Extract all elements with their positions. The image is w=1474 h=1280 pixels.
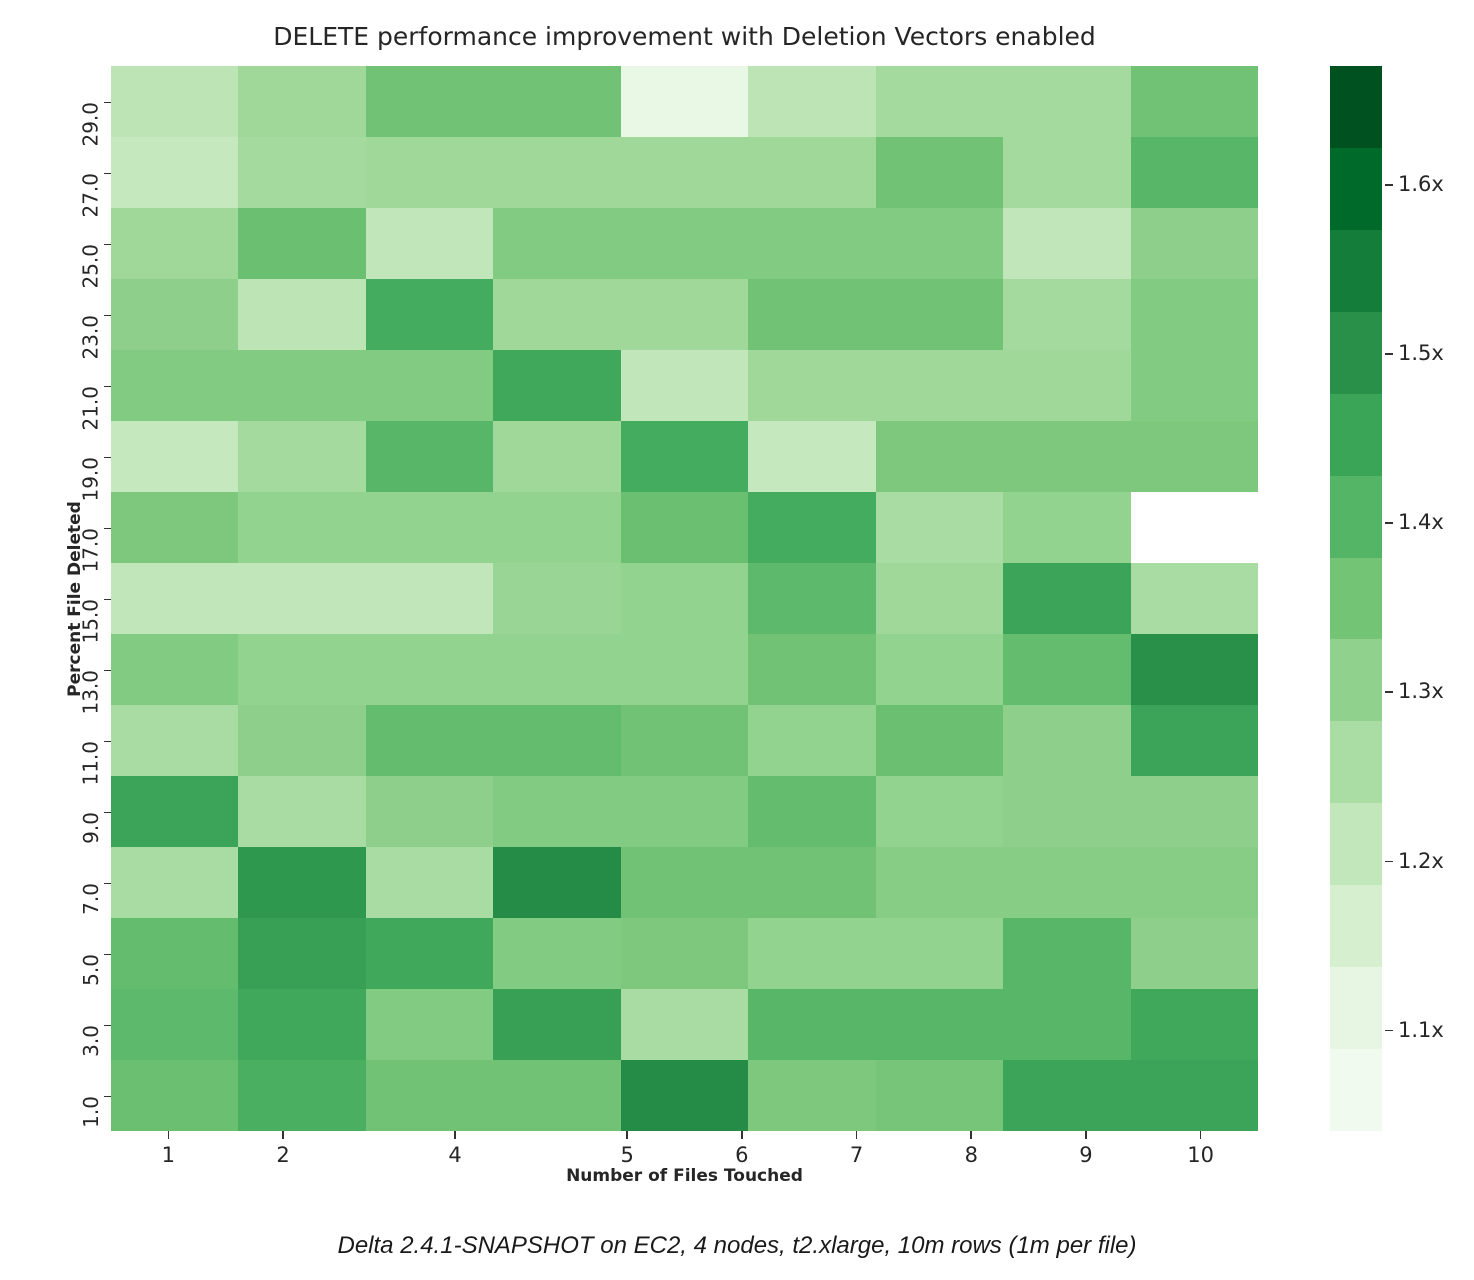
heatmap-cell	[1131, 634, 1258, 705]
colorbar-tick-label: 1.4x	[1398, 510, 1444, 534]
x-tick-label: 4	[448, 1143, 461, 1167]
figure-caption: Delta 2.4.1-SNAPSHOT on EC2, 4 nodes, t2…	[0, 1232, 1474, 1260]
colorbar-tick-mark	[1385, 522, 1393, 524]
heatmap-cell	[238, 421, 365, 492]
heatmap-cell	[1003, 492, 1130, 563]
heatmap-cell	[366, 563, 493, 634]
colorbar-band	[1330, 803, 1382, 885]
heatmap-cell	[621, 492, 748, 563]
heatmap-cell	[876, 847, 1003, 918]
heatmap-cell	[876, 563, 1003, 634]
heatmap-cell	[238, 350, 365, 421]
colorbar-band	[1330, 312, 1382, 394]
x-tick-mark	[168, 1131, 170, 1139]
y-tick-mark	[104, 102, 111, 104]
x-tick-mark	[741, 1131, 743, 1139]
heatmap-cell	[748, 776, 875, 847]
y-tick-label: 23.0	[79, 315, 103, 360]
heatmap-cell	[238, 66, 365, 137]
y-tick-mark	[104, 670, 111, 672]
y-tick-label: 13.0	[79, 670, 103, 715]
x-tick-label: 5	[620, 1143, 633, 1167]
heatmap-cell	[238, 208, 365, 279]
heatmap-figure: DELETE performance improvement with Dele…	[0, 0, 1474, 1280]
x-tick-label: 1	[162, 1143, 175, 1167]
heatmap-cell	[366, 989, 493, 1060]
heatmap-cell	[748, 634, 875, 705]
heatmap-cell	[366, 918, 493, 989]
heatmap-cell	[493, 634, 620, 705]
heatmap-cell	[238, 137, 365, 208]
heatmap-cell	[748, 705, 875, 776]
colorbar: 1.6x1.5x1.4x1.3x1.2x1.1x	[1330, 66, 1460, 1131]
heatmap-cell	[1131, 705, 1258, 776]
heatmap-plot-area: Percent File Deleted 29.027.025.023.021.…	[111, 66, 1258, 1131]
y-tick-mark	[104, 173, 111, 175]
heatmap-cell	[493, 421, 620, 492]
heatmap-cell	[366, 279, 493, 350]
y-tick-label: 3.0	[79, 1025, 103, 1057]
heatmap-cell	[621, 563, 748, 634]
y-tick-mark	[104, 457, 111, 459]
heatmap-cell	[238, 634, 493, 705]
heatmap-cell	[366, 776, 493, 847]
heatmap-cell	[748, 918, 1003, 989]
x-tick-label: 10	[1187, 1143, 1214, 1167]
heatmap-cell	[111, 421, 238, 492]
heatmap-cell	[621, 705, 748, 776]
colorbar-band	[1330, 476, 1382, 558]
heatmap-cell	[1003, 634, 1130, 705]
x-axis-title: Number of Files Touched	[111, 1166, 1258, 1186]
heatmap-cell	[1131, 279, 1258, 350]
x-tick-mark	[1085, 1131, 1087, 1139]
heatmap-cell	[493, 279, 620, 350]
colorbar-band	[1330, 1049, 1382, 1131]
y-tick-label: 29.0	[79, 102, 103, 147]
heatmap-cell	[493, 137, 748, 208]
heatmap-cell	[111, 350, 238, 421]
heatmap-cell	[748, 492, 875, 563]
heatmap-cell	[876, 137, 1003, 208]
colorbar-band	[1330, 639, 1382, 721]
y-tick-label: 15.0	[79, 599, 103, 644]
heatmap-cell	[876, 1060, 1003, 1131]
heatmap-grid	[111, 66, 1258, 1131]
colorbar-band	[1330, 967, 1382, 1049]
heatmap-cell	[621, 634, 748, 705]
heatmap-cell	[493, 918, 620, 989]
y-tick-mark	[104, 528, 111, 530]
heatmap-cell	[366, 492, 493, 563]
x-tick-mark	[1200, 1131, 1202, 1139]
colorbar-tick-label: 1.6x	[1398, 172, 1444, 196]
y-tick-label: 25.0	[79, 244, 103, 289]
heatmap-cell	[1003, 208, 1130, 279]
x-tick-mark	[626, 1131, 628, 1139]
heatmap-cell	[111, 208, 238, 279]
heatmap-cell	[238, 1060, 365, 1131]
colorbar-tick-label: 1.5x	[1398, 341, 1444, 365]
colorbar-tick-mark	[1385, 1030, 1393, 1032]
colorbar-band	[1330, 230, 1382, 312]
colorbar-tick-mark	[1385, 861, 1393, 863]
heatmap-cell	[493, 563, 620, 634]
heatmap-cell	[493, 350, 620, 421]
heatmap-cell	[621, 350, 748, 421]
heatmap-cell	[238, 847, 365, 918]
heatmap-cell	[876, 776, 1003, 847]
colorbar-tick-mark	[1385, 184, 1393, 186]
heatmap-cell	[621, 918, 748, 989]
y-tick-label: 19.0	[79, 457, 103, 502]
heatmap-cell	[111, 847, 238, 918]
colorbar-band	[1330, 885, 1382, 967]
heatmap-cell	[111, 563, 366, 634]
colorbar-tick-mark	[1385, 691, 1393, 693]
heatmap-cell	[493, 208, 620, 279]
heatmap-cell	[111, 989, 238, 1060]
colorbar-band	[1330, 721, 1382, 803]
y-tick-label: 27.0	[79, 173, 103, 218]
y-tick-label: 17.0	[79, 528, 103, 573]
heatmap-cell	[493, 847, 620, 918]
y-tick-label: 1.0	[79, 1096, 103, 1128]
heatmap-cell	[366, 421, 493, 492]
heatmap-cell	[876, 208, 1003, 279]
colorbar-band	[1330, 66, 1382, 148]
y-tick-label: 9.0	[79, 812, 103, 844]
heatmap-cell	[1131, 776, 1258, 847]
heatmap-cell	[1131, 137, 1258, 208]
y-tick-label: 11.0	[79, 741, 103, 786]
heatmap-cell	[366, 208, 493, 279]
heatmap-cell	[111, 918, 238, 989]
heatmap-cell	[621, 66, 748, 137]
heatmap-cell	[493, 492, 620, 563]
colorbar-strip	[1330, 66, 1382, 1131]
heatmap-cell	[1003, 66, 1130, 137]
heatmap-cell	[876, 421, 1003, 492]
heatmap-cell	[1003, 137, 1130, 208]
heatmap-cell	[366, 137, 493, 208]
heatmap-cell	[238, 492, 365, 563]
heatmap-cell	[621, 279, 748, 350]
y-tick-label: 5.0	[79, 954, 103, 986]
heatmap-cell	[111, 492, 238, 563]
heatmap-cell	[621, 208, 876, 279]
heatmap-cell	[1003, 421, 1258, 492]
heatmap-cell	[1131, 350, 1258, 421]
heatmap-cell	[876, 66, 1003, 137]
heatmap-cell	[111, 705, 238, 776]
heatmap-cell	[366, 847, 493, 918]
heatmap-cell	[111, 634, 238, 705]
heatmap-cell	[493, 1060, 620, 1131]
heatmap-cell	[1131, 563, 1258, 634]
heatmap-cell	[1003, 563, 1130, 634]
heatmap-cell	[748, 350, 875, 421]
heatmap-cell	[111, 279, 238, 350]
heatmap-cell	[493, 776, 748, 847]
y-tick-mark	[104, 386, 111, 388]
heatmap-cell	[621, 847, 876, 918]
y-tick-mark	[104, 244, 111, 246]
heatmap-cell	[238, 705, 365, 776]
y-tick-label: 7.0	[79, 883, 103, 915]
y-tick-mark	[104, 812, 111, 814]
colorbar-band	[1330, 394, 1382, 476]
heatmap-cell	[621, 989, 748, 1060]
y-tick-mark	[104, 883, 111, 885]
x-tick-label: 6	[735, 1143, 748, 1167]
x-tick-mark	[454, 1131, 456, 1139]
heatmap-cell	[111, 137, 238, 208]
heatmap-cell	[748, 66, 875, 137]
heatmap-cell	[876, 634, 1003, 705]
y-tick-mark	[104, 954, 111, 956]
heatmap-cell	[366, 705, 621, 776]
heatmap-cell	[1003, 1060, 1258, 1131]
heatmap-cell	[876, 350, 1131, 421]
page-title: DELETE performance improvement with Dele…	[111, 22, 1258, 51]
heatmap-cell	[748, 137, 875, 208]
colorbar-tick-label: 1.2x	[1398, 849, 1444, 873]
y-tick-mark	[104, 1025, 111, 1027]
heatmap-cell	[621, 1060, 748, 1131]
colorbar-band	[1330, 148, 1382, 230]
heatmap-cell	[111, 66, 238, 137]
heatmap-cell	[366, 350, 493, 421]
heatmap-cell	[238, 279, 365, 350]
heatmap-cell	[111, 776, 238, 847]
heatmap-cell	[1003, 847, 1130, 918]
x-tick-label: 2	[276, 1143, 289, 1167]
colorbar-band	[1330, 558, 1382, 640]
heatmap-cell	[1003, 705, 1130, 776]
y-tick-mark	[104, 599, 111, 601]
heatmap-cell	[493, 989, 620, 1060]
heatmap-cell	[1131, 66, 1258, 137]
heatmap-cell	[876, 989, 1131, 1060]
heatmap-cell	[366, 66, 621, 137]
x-tick-label: 7	[850, 1143, 863, 1167]
colorbar-tick-label: 1.1x	[1398, 1018, 1444, 1042]
heatmap-cell	[876, 705, 1003, 776]
x-tick-mark	[856, 1131, 858, 1139]
x-tick-label: 8	[965, 1143, 978, 1167]
heatmap-cell	[876, 492, 1003, 563]
heatmap-cell	[748, 989, 875, 1060]
heatmap-cell	[111, 1060, 238, 1131]
heatmap-cell	[1131, 918, 1258, 989]
heatmap-cell	[748, 563, 875, 634]
y-tick-mark	[104, 1096, 111, 1098]
heatmap-cell	[1003, 776, 1130, 847]
heatmap-cell	[366, 1060, 493, 1131]
colorbar-tick-label: 1.3x	[1398, 679, 1444, 703]
heatmap-cell	[1003, 918, 1130, 989]
y-tick-mark	[104, 741, 111, 743]
heatmap-cell	[748, 279, 1003, 350]
y-tick-mark	[104, 315, 111, 317]
colorbar-tick-mark	[1385, 353, 1393, 355]
heatmap-cell	[748, 421, 875, 492]
heatmap-cell	[238, 776, 365, 847]
heatmap-cell	[238, 989, 365, 1060]
heatmap-cell	[1131, 847, 1258, 918]
heatmap-cell	[1131, 208, 1258, 279]
heatmap-cell	[621, 421, 748, 492]
heatmap-cell	[238, 918, 365, 989]
heatmap-cell	[1003, 279, 1130, 350]
x-tick-mark	[282, 1131, 284, 1139]
x-tick-mark	[970, 1131, 972, 1139]
y-tick-label: 21.0	[79, 386, 103, 431]
x-tick-label: 9	[1079, 1143, 1092, 1167]
heatmap-cell	[1131, 989, 1258, 1060]
heatmap-cell	[748, 1060, 875, 1131]
